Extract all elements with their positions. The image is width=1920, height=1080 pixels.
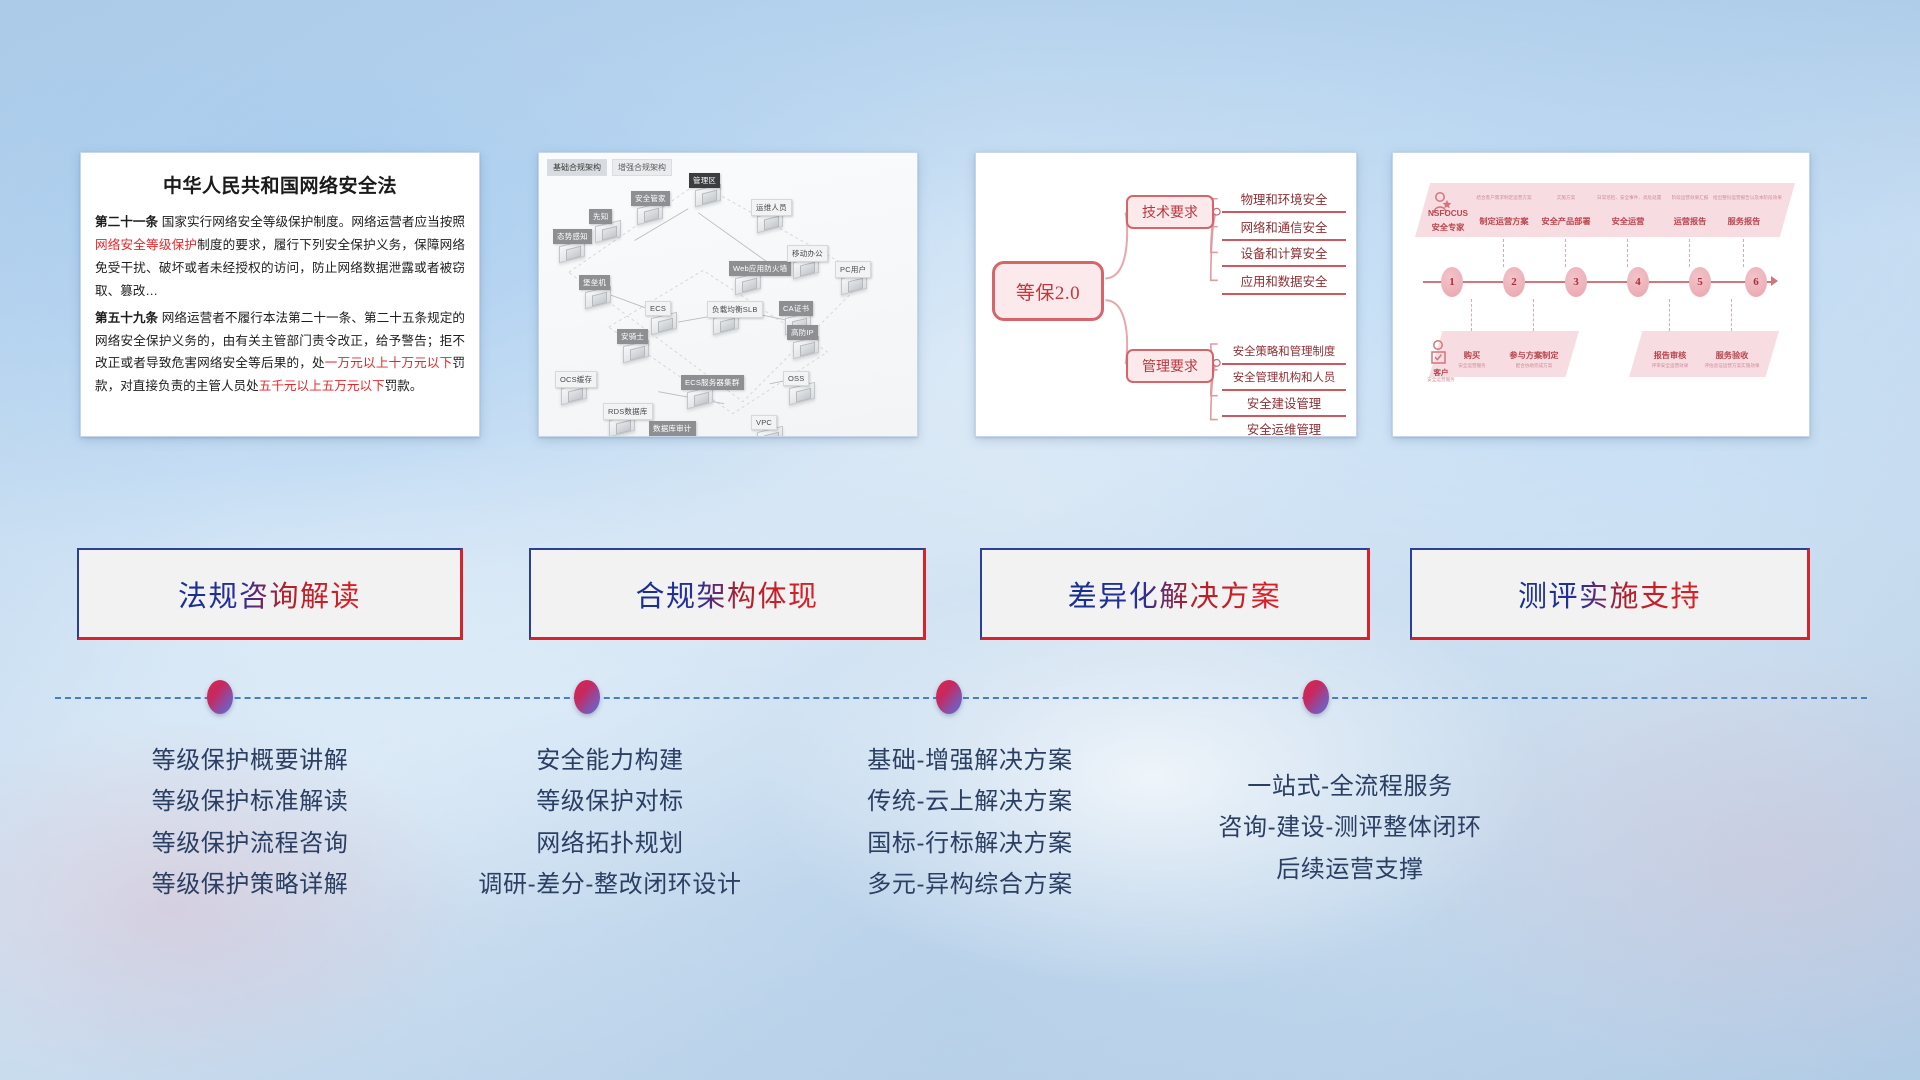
nsfocus-timeline-axis	[1423, 281, 1773, 283]
card-mindmap[interactable]: 等保2.0 技术要求 管理要求 物理和环境安全网络和通信安全设备和计算安全应用和…	[975, 152, 1357, 437]
architecture-canvas: 基础合规架构增强合规架构	[539, 153, 917, 436]
architecture-node-label: 移动办公	[787, 245, 828, 262]
timeline-step-connector	[1743, 239, 1744, 267]
mindmap-leaf: 物理和环境安全	[1222, 186, 1346, 213]
item-list-regulation-consulting: 等级保护概要讲解等级保护标准解读等级保护流程咨询等级保护策略详解	[40, 740, 460, 905]
mindmap-leaf: 安全运维管理	[1222, 416, 1346, 437]
list-item: 调研-差分-整改闭环设计	[400, 864, 820, 905]
architecture-node-label: 先知	[589, 209, 612, 224]
timeline-step-number: 4	[1627, 267, 1649, 297]
architecture-node-label: VPC	[751, 415, 777, 430]
architecture-node-label: 高防IP	[787, 325, 818, 340]
list-item: 网络拓扑规划	[400, 823, 820, 864]
mindmap-branch-management: 管理要求	[1126, 349, 1214, 383]
list-item: 国标-行标解决方案	[760, 823, 1180, 864]
timeline-step-sub: 评审安全运营效果	[1637, 363, 1703, 369]
law-document-body: 中华人民共和国网络安全法 第二十一条 国家实行网络安全等级保护制度。网络运营者应…	[81, 153, 479, 412]
law-text-run: 国家实行网络安全等级保护制度。网络运营者应当按照	[158, 215, 465, 229]
card-nsfocus-timeline[interactable]: NSFOCUS 安全专家 客户 安全运营服务 123456结合客户需求制定运营方…	[1392, 152, 1810, 437]
architecture-node-label: 数据库审计	[649, 421, 696, 436]
timeline-step-label: 报告审核	[1637, 349, 1703, 361]
architecture-node-label: PC用户	[835, 261, 871, 278]
law-text-highlight: 五千元以上五万元以下	[259, 379, 385, 393]
timeline-step-connector	[1627, 239, 1628, 267]
list-item: 多元-异构综合方案	[760, 864, 1180, 905]
timeline-step-connector	[1533, 299, 1534, 331]
timeline-step-number: 2	[1503, 267, 1525, 297]
timeline-dot-4	[1303, 680, 1329, 714]
list-item: 等级保护对标	[400, 781, 820, 822]
item-list-assessment-support: 一站式-全流程服务咨询-建设-测评整体闭环后续运营支撑	[1140, 766, 1560, 890]
timeline-step-sub: 评估验证运营方案实施效果	[1699, 363, 1765, 369]
timeline-step-sub: 阶段运营效果汇报	[1659, 195, 1721, 201]
list-item: 等级保护策略详解	[40, 864, 460, 905]
architecture-node-label: ECS服务器集群	[681, 375, 744, 390]
title-label: 合规架构体现	[635, 573, 818, 615]
list-item: 传统-云上解决方案	[760, 781, 1180, 822]
timeline-step-label: 制定运营方案	[1471, 215, 1537, 227]
mindmap-leaf: 网络和通信安全	[1222, 214, 1346, 241]
architecture-node-label: RDS数据库	[603, 403, 653, 420]
timeline-step-number: 3	[1565, 267, 1587, 297]
list-item: 基础-增强解决方案	[760, 740, 1180, 781]
timeline-step-connector	[1503, 239, 1504, 267]
mindmap-leaf: 安全策略和管理制度	[1222, 338, 1346, 365]
law-paragraph-list: 第二十一条 国家实行网络安全等级保护制度。网络运营者应当按照网络安全等级保护制度…	[95, 211, 465, 398]
mindmap-canvas: 等保2.0 技术要求 管理要求 物理和环境安全网络和通信安全设备和计算安全应用和…	[976, 153, 1356, 436]
timeline-step-label: 安全产品部署	[1533, 215, 1599, 227]
timeline-step-number: 6	[1745, 267, 1767, 297]
timeline-step-connector	[1669, 299, 1670, 331]
architecture-node-label: 管理区	[689, 173, 720, 188]
card-law-document[interactable]: 中华人民共和国网络安全法 第二十一条 国家实行网络安全等级保护制度。网络运营者应…	[80, 152, 480, 437]
timeline-step-number: 1	[1441, 267, 1463, 297]
timeline-step-label: 参与方案制定	[1501, 349, 1567, 361]
list-item: 等级保护概要讲解	[40, 740, 460, 781]
card-architecture-diagram[interactable]: 基础合规架构增强合规架构	[538, 152, 918, 437]
architecture-node-label: OSS	[783, 371, 809, 386]
timeline-step-sub: 日常巡检、安全事件、高危处置	[1597, 195, 1659, 201]
timeline-arrow-icon	[1771, 276, 1778, 286]
architecture-node-label: 态势感知	[553, 229, 592, 244]
timeline-dot-3	[936, 680, 962, 714]
architecture-node-label: 安骑士	[617, 329, 648, 344]
timeline-dot-2	[574, 680, 600, 714]
title-box-regulation-consulting[interactable]: 法规咨询解读	[77, 548, 463, 640]
slide-canvas: 中华人民共和国网络安全法 第二十一条 国家实行网络安全等级保护制度。网络运营者应…	[0, 0, 1920, 1080]
mindmap-root-node: 等保2.0	[992, 261, 1104, 321]
law-text-run: 罚款。	[385, 379, 423, 393]
nsfocus-brand-sub: 安全专家	[1417, 221, 1479, 233]
mindmap-leaf: 设备和计算安全	[1222, 240, 1346, 267]
timeline-step-sub: 给出整份运营报告以及本阶段效果	[1713, 195, 1775, 201]
law-paragraph: 第五十九条 网络运营者不履行本法第二十一条、第二十五条规定的网络安全保护义务的，…	[95, 307, 465, 399]
item-list-row: 等级保护概要讲解等级保护标准解读等级保护流程咨询等级保护策略详解 安全能力构建等…	[0, 740, 1920, 940]
title-box-differentiated-solution[interactable]: 差异化解决方案	[980, 548, 1370, 640]
architecture-node-label: 运维人员	[751, 199, 792, 216]
timeline-step-label: 安全运营	[1595, 215, 1661, 227]
timeline-step-connector	[1689, 239, 1690, 267]
item-list-differentiated-solution: 基础-增强解决方案传统-云上解决方案国标-行标解决方案多元-异构综合方案	[760, 740, 1180, 905]
timeline-step-connector	[1471, 299, 1472, 331]
timeline-step-label: 服务报告	[1711, 215, 1777, 227]
nsfocus-brand: NSFOCUS	[1417, 209, 1479, 218]
timeline-step-connector	[1565, 239, 1566, 267]
title-label: 差异化解决方案	[1068, 573, 1282, 615]
list-item: 后续运营支撑	[1140, 849, 1560, 890]
law-title: 中华人民共和国网络安全法	[95, 171, 465, 198]
timeline-step-sub: 结合客户需求制定运营方案	[1473, 195, 1535, 201]
mindmap-leaf: 安全建设管理	[1222, 390, 1346, 417]
list-item: 安全能力构建	[400, 740, 820, 781]
timeline-step-number: 5	[1689, 267, 1711, 297]
mindmap-branch-technical: 技术要求	[1126, 195, 1214, 229]
title-label: 测评实施支持	[1518, 573, 1701, 615]
mindmap-leaf: 应用和数据安全	[1222, 268, 1346, 295]
timeline-step-label: 服务验收	[1699, 349, 1765, 361]
architecture-node-label: CA证书	[779, 301, 813, 316]
timeline-step-sub: 实施方案	[1535, 195, 1597, 201]
architecture-node-label: ECS	[645, 301, 671, 316]
architecture-node-label: Web应用防火墙	[729, 261, 791, 276]
timeline-step-sub: 安全运营服务	[1439, 363, 1505, 369]
list-item: 等级保护流程咨询	[40, 823, 460, 864]
title-box-compliance-architecture[interactable]: 合规架构体现	[529, 548, 926, 640]
nsfocus-canvas: NSFOCUS 安全专家 客户 安全运营服务 123456结合客户需求制定运营方…	[1393, 153, 1809, 436]
thumbnail-card-row: 中华人民共和国网络安全法 第二十一条 国家实行网络安全等级保护制度。网络运营者应…	[0, 152, 1920, 442]
law-text-highlight: 一万元以上十万元以下	[325, 356, 453, 370]
list-item: 等级保护标准解读	[40, 781, 460, 822]
timeline-step-sub: 配合协助完成方案	[1501, 363, 1567, 369]
law-article-number: 第五十九条	[95, 311, 158, 325]
customer-sub: 安全运营服务	[1413, 377, 1469, 383]
timeline-step-label: 购买	[1439, 349, 1505, 361]
list-item: 一站式-全流程服务	[1140, 766, 1560, 807]
list-item: 咨询-建设-测评整体闭环	[1140, 807, 1560, 848]
law-article-number: 第二十一条	[95, 215, 158, 229]
architecture-node-label: 安全管家	[631, 191, 670, 206]
architecture-node-label: 负载均衡SLB	[707, 301, 763, 318]
timeline-dot-1	[207, 680, 233, 714]
architecture-node-label: OCS缓存	[555, 371, 597, 388]
title-label: 法规咨询解读	[178, 573, 361, 615]
architecture-node-label: 堡垒机	[579, 275, 610, 290]
law-paragraph: 第二十一条 国家实行网络安全等级保护制度。网络运营者应当按照网络安全等级保护制度…	[95, 211, 465, 303]
title-box-row: 法规咨询解读 合规架构体现 差异化解决方案 测评实施支持	[0, 548, 1920, 640]
mindmap-leaf: 安全管理机构和人员	[1222, 364, 1346, 391]
title-box-assessment-support[interactable]: 测评实施支持	[1410, 548, 1810, 640]
item-list-compliance-architecture: 安全能力构建等级保护对标网络拓扑规划调研-差分-整改闭环设计	[400, 740, 820, 905]
law-text-highlight: 网络安全等级保护	[95, 238, 197, 252]
timeline-step-connector	[1731, 299, 1732, 331]
